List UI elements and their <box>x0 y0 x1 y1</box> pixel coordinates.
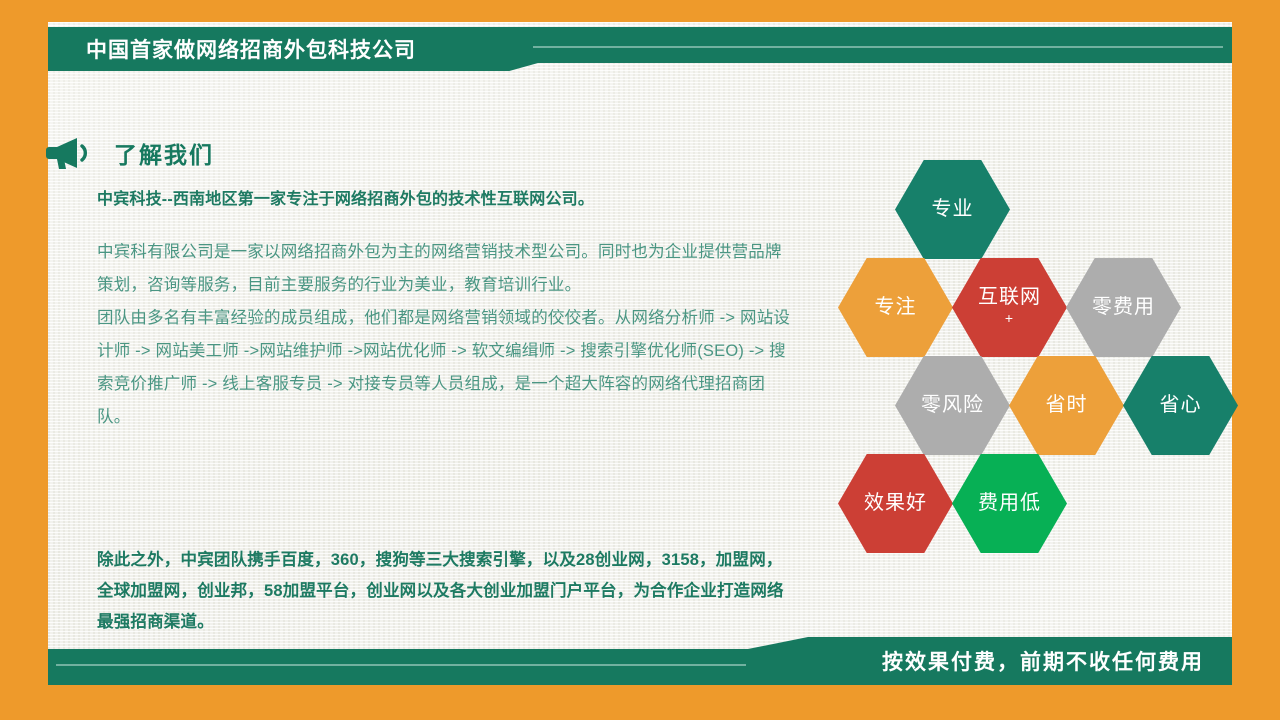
hexagon-label: 零风险 <box>921 394 984 417</box>
about-copy: 中宾科技--西南地区第一家专注于网络招商外包的技术性互联网公司。 中宾科有限公司… <box>97 188 797 434</box>
closing-paragraph: 除此之外，中宾团队携手百度，360，搜狗等三大搜索引擎，以及28创业网，3158… <box>97 545 787 638</box>
hexagon-tile: 互联网+ <box>952 258 1067 357</box>
hexagon-label: 效果好 <box>864 492 927 515</box>
hexagon-sublabel: + <box>1005 309 1014 329</box>
page-title: 中国首家做网络招商外包科技公司 <box>48 27 488 71</box>
header-rule-line <box>533 46 1223 48</box>
footer-bar: 按效果付费，前期不收任何费用 <box>48 637 1232 685</box>
hexagon-tile: 费用低 <box>952 454 1067 553</box>
hexagon-label: 费用低 <box>978 492 1041 515</box>
hexagon-tile: 专业 <box>895 160 1010 259</box>
hexagon-label: 互联网 <box>978 286 1041 309</box>
body-paragraph-1: 中宾科有限公司是一家以网络招商外包为主的网络营销技术型公司。同时也为企业提供营品… <box>97 236 797 302</box>
hexagon-label: 省时 <box>1046 394 1088 417</box>
footer-tagline: 按效果付费，前期不收任何费用 <box>882 637 1204 685</box>
hexagon-tile: 效果好 <box>838 454 953 553</box>
hexagon-tile: 省时 <box>1009 356 1124 455</box>
hexagon-tile: 专注 <box>838 258 953 357</box>
hexagon-label: 专注 <box>875 296 917 319</box>
lead-statement: 中宾科技--西南地区第一家专注于网络招商外包的技术性互联网公司。 <box>97 188 797 212</box>
hexagon-tile: 零费用 <box>1066 258 1181 357</box>
hexagon-tile: 省心 <box>1123 356 1238 455</box>
section-heading: 了解我们 <box>46 136 214 170</box>
hexagon-label: 省心 <box>1160 394 1202 417</box>
megaphone-icon <box>46 136 92 170</box>
hexagon-label: 专业 <box>932 198 974 221</box>
section-heading-label: 了解我们 <box>114 136 214 170</box>
hexagon-cluster: 专业专注互联网+零费用零风险省时省心效果好费用低 <box>828 150 1228 550</box>
footer-rule-line <box>56 664 746 666</box>
slide-canvas: 中国首家做网络招商外包科技公司 了解我们 中宾科技--西南地区第一家专注于网络招… <box>0 0 1280 720</box>
header-bar: 中国首家做网络招商外包科技公司 <box>48 27 1232 77</box>
hexagon-tile: 零风险 <box>895 356 1010 455</box>
hexagon-label: 零费用 <box>1092 296 1155 319</box>
body-paragraph-2: 团队由多名有丰富经验的成员组成，他们都是网络营销领域的佼佼者。从网络分析师 ->… <box>97 302 797 434</box>
